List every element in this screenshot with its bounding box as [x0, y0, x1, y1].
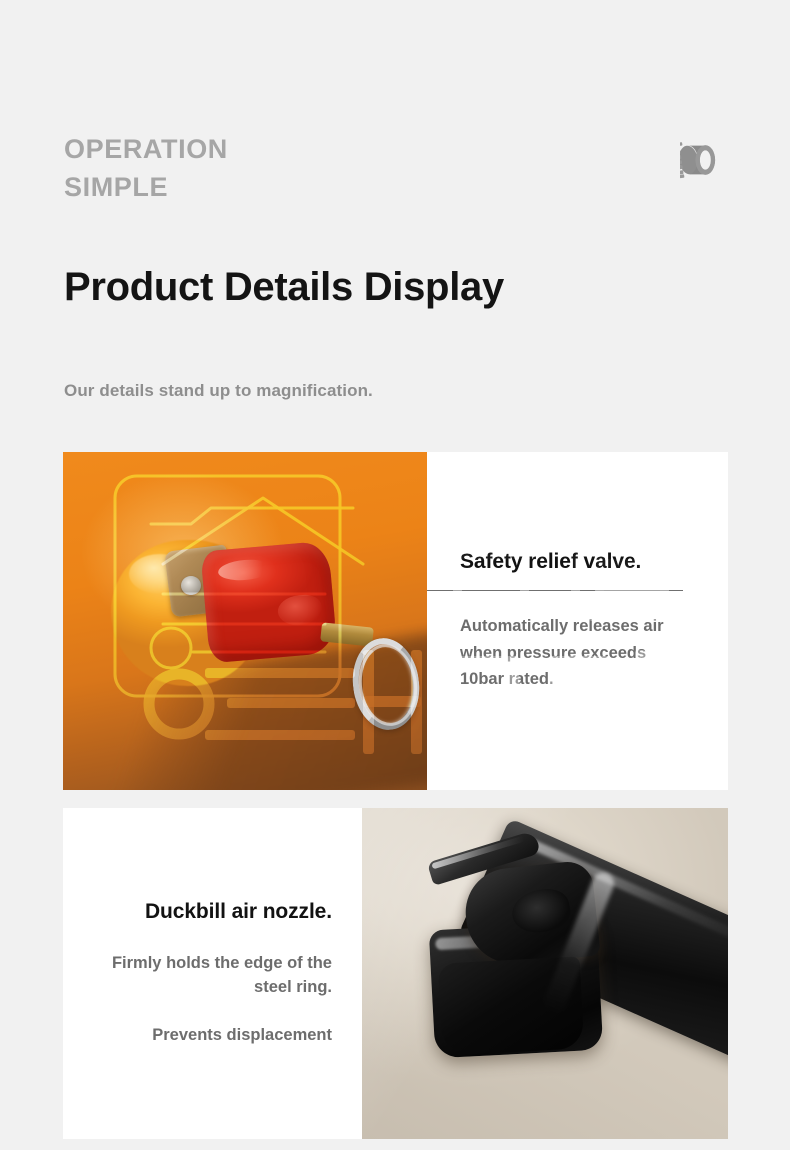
valve-text-panel: Safety relief valve. Automatically relea…	[427, 452, 728, 790]
red-valve-body	[200, 541, 337, 664]
eyebrow-line-2: SIMPLE	[64, 168, 484, 206]
nozzle-text-panel: Duckbill air nozzle. Firmly holds the ed…	[63, 808, 362, 1139]
card-body: Automatically releases air when pressure…	[460, 613, 682, 693]
nozzle-photo	[362, 808, 728, 1139]
gear-ring-icon	[676, 134, 728, 186]
card-title: Duckbill air nozzle.	[83, 899, 332, 925]
detail-card-safety-relief-valve: Safety relief valve. Automatically relea…	[63, 452, 728, 790]
page-subtitle: Our details stand up to magnification.	[64, 381, 373, 401]
card-body-line-1: Firmly holds the edge of the steel ring.	[83, 952, 332, 1000]
eyebrow-line-1: OPERATION	[64, 130, 484, 168]
eyebrow-heading: OPERATION SIMPLE	[64, 130, 484, 207]
valve-photo	[63, 452, 427, 790]
title-divider	[427, 590, 683, 591]
brass-nut	[181, 576, 201, 595]
detail-card-duckbill-air-nozzle: Duckbill air nozzle. Firmly holds the ed…	[63, 808, 728, 1139]
page-title: Product Details Display	[64, 263, 504, 311]
card-body-line-2: Prevents displacement	[83, 1024, 332, 1048]
product-details-page: OPERATION SIMPLE	[0, 0, 790, 1150]
card-title: Safety relief valve.	[460, 549, 682, 575]
